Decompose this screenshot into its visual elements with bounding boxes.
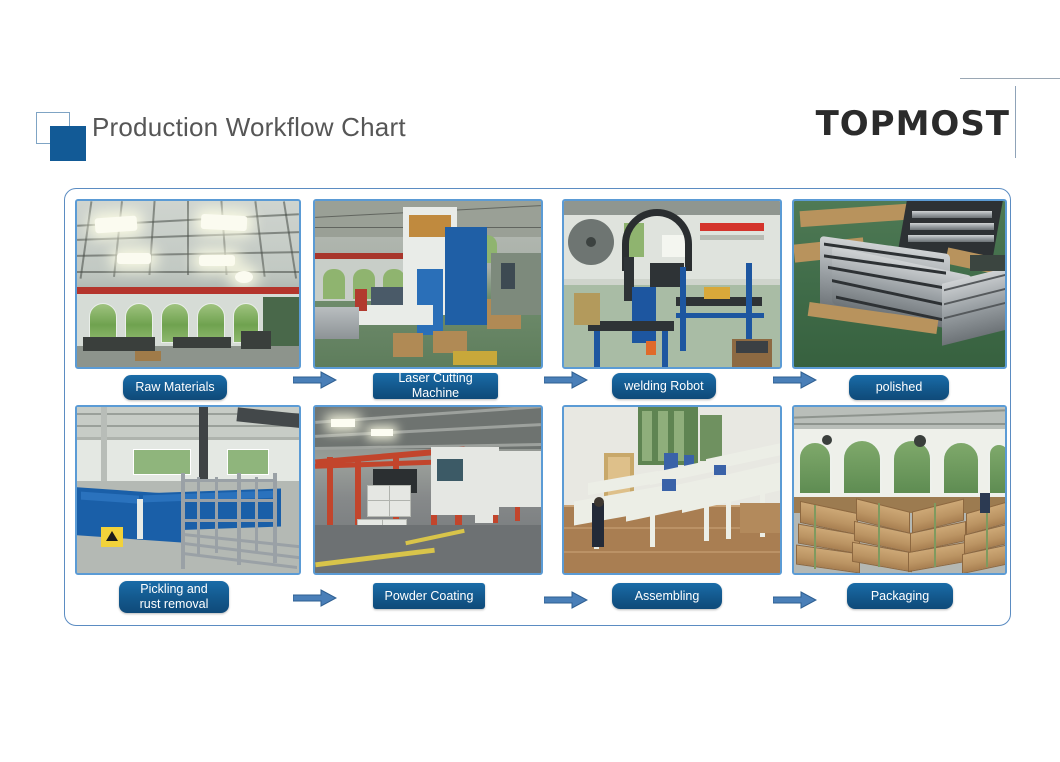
step-photo-packaging	[792, 405, 1007, 575]
step-photo-powder-coating	[313, 405, 543, 575]
workflow-step-1[interactable]: Raw Materials	[75, 191, 310, 406]
slide-header: Production Workflow Chart TOPMOST	[0, 0, 1060, 180]
workflow-frame: Raw Materials	[64, 188, 1011, 626]
step-label-powder-coating[interactable]: Powder Coating	[373, 583, 485, 609]
workflow-step-5[interactable]: Pickling and rust removal	[75, 397, 310, 612]
workflow-step-8[interactable]: Packaging	[792, 397, 1007, 612]
header-top-rule	[960, 78, 1060, 79]
header-vertical-rule	[1015, 86, 1016, 158]
workflow-step-2[interactable]: Laser Cutting Machine	[313, 191, 555, 406]
step-photo-assembling	[562, 405, 782, 575]
workflow-step-6[interactable]: Powder Coating	[313, 397, 555, 612]
workflow-step-7[interactable]: Assembling	[562, 397, 794, 612]
page-title: Production Workflow Chart	[92, 112, 406, 143]
overlapping-squares-icon	[36, 112, 88, 162]
brand-logo: TOPMOST	[816, 104, 1010, 144]
step-photo-laser-cutting	[313, 199, 543, 369]
step-label-laser-cutting-machine[interactable]: Laser Cutting Machine	[373, 373, 498, 399]
workflow-step-4[interactable]: polished	[792, 191, 1007, 406]
workflow-row-1: Raw Materials	[65, 191, 1012, 406]
step-photo-welding-robot	[562, 199, 782, 369]
brand-logo-text: TOPMOST	[816, 104, 1010, 144]
step-label-packaging[interactable]: Packaging	[847, 583, 953, 609]
workflow-step-3[interactable]: welding Robot	[562, 191, 794, 406]
workflow-row-2: Pickling and rust removal	[65, 397, 1012, 612]
step-photo-raw-materials	[75, 199, 301, 369]
step-label-assembling[interactable]: Assembling	[612, 583, 722, 609]
step-label-pickling-and-rust-removal[interactable]: Pickling and rust removal	[119, 581, 229, 613]
step-photo-pickling	[75, 405, 301, 575]
step-photo-polished	[792, 199, 1007, 369]
step-label-welding-robot[interactable]: welding Robot	[612, 373, 716, 399]
slide-canvas: Production Workflow Chart TOPMOST	[0, 0, 1060, 762]
square-solid-shape	[50, 126, 86, 161]
